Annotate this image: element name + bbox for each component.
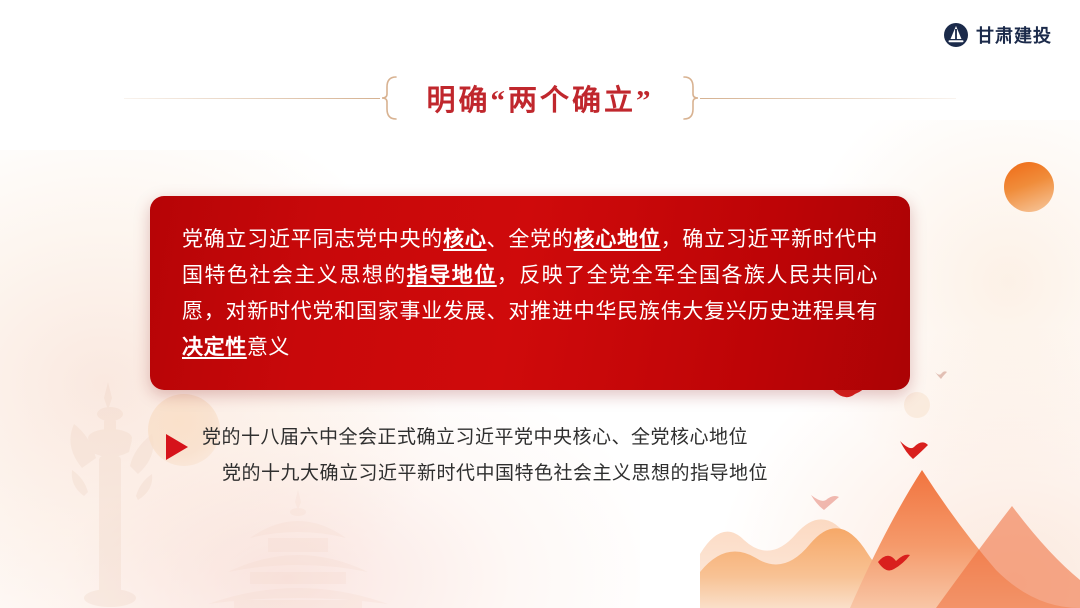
background-wash-bottom xyxy=(0,368,640,608)
emphasis-phrase: 决定性 xyxy=(182,336,247,359)
bullet-line: 党的十八届六中全会正式确立习近平党中央核心、全党核心地位 xyxy=(202,424,768,452)
bird-icon xyxy=(934,369,948,380)
slide-title-row: 明确“两个确立” xyxy=(0,72,1080,124)
company-logo[interactable]: 甘肃建投 xyxy=(943,22,1052,48)
right-brace-icon xyxy=(680,75,700,121)
title-rule-right xyxy=(700,98,956,99)
faint-peach-circle xyxy=(904,392,930,418)
emphasis-phrase: 核心 xyxy=(443,228,487,251)
statement-text-run: 、全党的 xyxy=(487,228,574,251)
orange-gradient-circle xyxy=(1004,162,1054,212)
page-title: 明确“两个确立” xyxy=(400,77,679,119)
bullet-line: 党的十九大确立习近平新时代中国特色社会主义思想的指导地位 xyxy=(222,460,768,488)
red-triangle-bullet-icon xyxy=(166,434,188,460)
emphasis-phrase: 指导地位 xyxy=(407,264,497,287)
bird-icon xyxy=(898,437,930,463)
bullet-line-list: 党的十八届六中全会正式确立习近平党中央核心、全党核心地位 党的十九大确立习近平新… xyxy=(202,424,768,487)
bird-icon xyxy=(876,550,912,578)
statement-card-text: 党确立习近平同志党中央的核心、全党的核心地位，确立习近平新时代中国特色社会主义思… xyxy=(182,222,878,366)
title-rule-left xyxy=(124,98,380,99)
emphasis-phrase: 核心地位 xyxy=(574,228,661,251)
slide-root: 甘肃建投 明确“两个确立” 党确立习近平同志党中央的核心、全党的核心地位，确立习… xyxy=(0,0,1080,608)
statement-card: 党确立习近平同志党中央的核心、全党的核心地位，确立习近平新时代中国特色社会主义思… xyxy=(150,196,910,390)
left-brace-icon xyxy=(380,75,400,121)
bullet-block: 党的十八届六中全会正式确立习近平党中央核心、全党核心地位 党的十九大确立习近平新… xyxy=(166,424,768,487)
ganjiantou-circular-emblem-icon xyxy=(943,22,969,48)
hua-biao-column-watermark xyxy=(52,378,172,608)
statement-text-run: 意义 xyxy=(247,336,290,359)
temple-of-heaven-watermark xyxy=(150,488,450,608)
statement-text-run: 党确立习近平同志党中央的 xyxy=(182,228,443,251)
logo-text: 甘肃建投 xyxy=(976,22,1052,48)
bird-icon xyxy=(810,491,840,513)
